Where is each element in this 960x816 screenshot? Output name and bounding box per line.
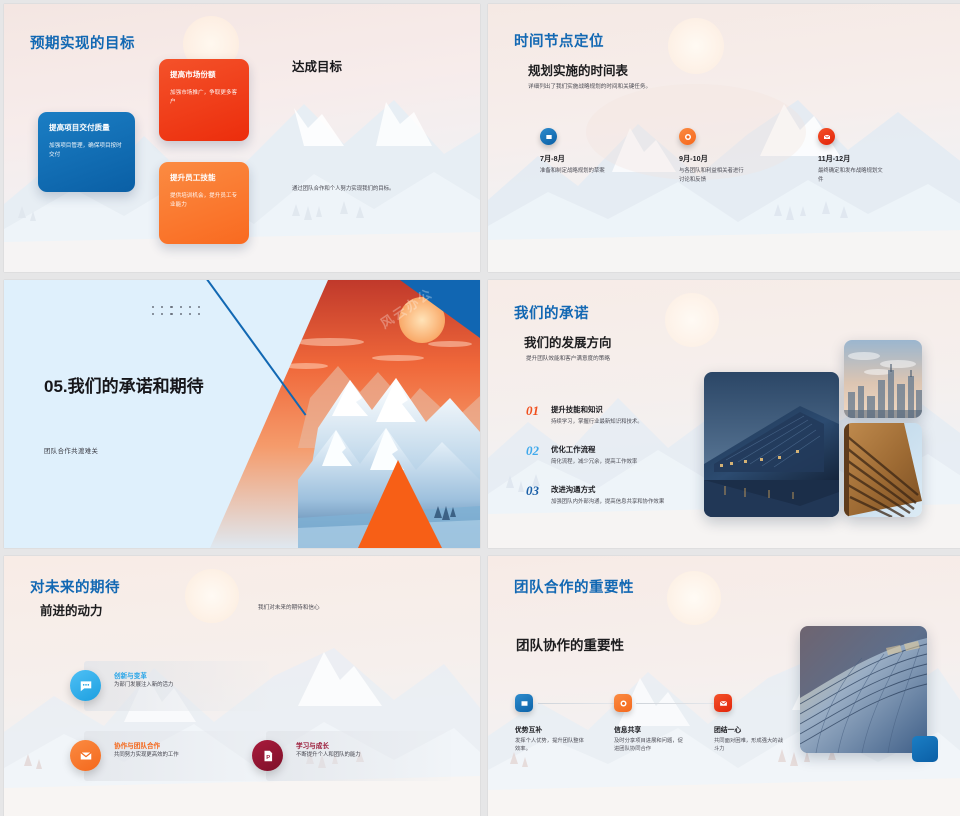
team-feature-desc: 及时分享项目进展和问题，促进团队协同合作: [614, 737, 688, 754]
section-subtitle: 团队合作共渡难关: [44, 446, 98, 455]
goal-card-title: 提高市场份额: [170, 70, 238, 80]
right-note: 通过团队合作和个人努力实现我们的目标。: [292, 184, 452, 192]
page-title: 对未来的期待: [30, 576, 120, 597]
team-feature-title: 信息共享: [614, 724, 714, 734]
future-card-desc: 为部门发展注入新的活力: [114, 681, 254, 689]
future-card-desc: 共同努力实现更高效的工作: [114, 751, 254, 759]
item-title: 优化工作流程: [551, 444, 676, 455]
photo-curved-facade: [800, 626, 927, 753]
photo-city-skyline: [844, 340, 922, 418]
right-heading: 达成目标: [292, 56, 342, 75]
timeline-desc: 最终确定和发布战略规划文件: [818, 167, 886, 184]
goal-card-market-share[interactable]: 提高市场份额 加强市场推广，争取更多客户: [159, 59, 249, 141]
timeline-period: 9月-10月: [679, 154, 789, 164]
team-feature-desc: 共同面对困难，形成强大的战斗力: [714, 737, 788, 754]
slide-future[interactable]: 对未来的期待 前进的动力 我们对未来的期待和信心 创新与变革 为部门发展注入新的…: [4, 556, 480, 816]
team-feature-title: 团结一心: [714, 724, 814, 734]
team-feature-3[interactable]: 团结一心 共同面对困难，形成强大的战斗力: [714, 694, 814, 754]
slide-commitment[interactable]: 我们的承诺 我们的发展方向 提升团队效能和客户满意度的策略 01 提升技能和知识…: [488, 280, 960, 548]
sub-description: 提升团队效能和客户满意度的策略: [526, 355, 726, 363]
target-icon: [679, 128, 696, 145]
timeline-desc: 与各团队和利益相关者进行讨论和反馈: [679, 167, 747, 184]
goal-card-skills[interactable]: 提升员工技能 提供培训机会，提升员工专业能力: [159, 162, 249, 244]
future-card-title: 创新与变革: [114, 670, 147, 680]
slide-section-cover[interactable]: 风云办公 05.我们的承诺和期待 团队合作共渡难关: [4, 280, 480, 548]
sub-description: 详细列出了我们实施战略规划的时间和关键任务。: [528, 83, 758, 91]
mail-icon: [70, 740, 101, 771]
mail-icon: [714, 694, 732, 712]
sub-heading: 我们的发展方向: [524, 332, 612, 351]
timeline-desc: 准备和制定战略规划的草案: [540, 167, 608, 176]
commitment-item-2[interactable]: 02 优化工作流程 简化流程，减少冗余，提高工作效率: [526, 444, 676, 467]
slide-goals[interactable]: 预期实现的目标 提高项目交付质量 加强项目管理，确保项目按时交付 提高市场份额 …: [4, 4, 480, 272]
item-number: 03: [526, 483, 539, 499]
timeline-item-1[interactable]: 7月-8月 准备和制定战略规划的草案: [540, 128, 650, 176]
sub-heading: 规划实施的时间表: [528, 60, 628, 79]
section-title: 05.我们的承诺和期待: [44, 376, 214, 398]
commitment-item-3[interactable]: 03 改进沟通方式 加强团队内外部沟通，提高信息共享和协作效果: [526, 484, 676, 507]
item-title: 提升技能和知识: [551, 404, 676, 415]
team-feature-1[interactable]: 优势互补 发挥个人优势，提升团队整体效率。: [515, 694, 615, 754]
image-icon: [540, 128, 557, 145]
item-title: 改进沟通方式: [551, 484, 676, 495]
goal-card-quality[interactable]: 提高项目交付质量 加强项目管理，确保项目按时交付: [38, 112, 135, 192]
team-feature-desc: 发挥个人优势，提升团队整体效率。: [515, 737, 589, 754]
future-card-desc: 不断提升个人和团队的能力: [296, 751, 436, 759]
goal-card-title: 提升员工技能: [170, 173, 238, 183]
target-icon: [614, 694, 632, 712]
commitment-item-1[interactable]: 01 提升技能和知识 持续学习，掌握行业最新知识和技术。: [526, 404, 676, 427]
sub-heading: 前进的动力: [40, 600, 103, 619]
slide-deck: 预期实现的目标 提高项目交付质量 加强项目管理，确保项目按时交付 提高市场份额 …: [0, 0, 960, 816]
item-desc: 加强团队内外部沟通，提高信息共享和协作效果: [551, 498, 676, 507]
mail-icon: [818, 128, 835, 145]
chat-icon: [70, 670, 101, 701]
svg-text:P: P: [266, 754, 270, 760]
item-number: 01: [526, 403, 539, 419]
slide-teamwork[interactable]: 团队合作的重要性 团队协作的重要性 优势互补 发挥个人优势，提升团队整体效率。 …: [488, 556, 960, 816]
item-desc: 持续学习，掌握行业最新知识和技术。: [551, 418, 676, 427]
timeline-period: 11月-12月: [818, 154, 928, 164]
future-card-title: 学习与成长: [296, 740, 329, 750]
photo-wooden-louvres: [844, 423, 922, 517]
future-card-growth[interactable]: P 学习与成长 不断提升个人和团队的能力: [266, 731, 451, 781]
future-card-innovation[interactable]: 创新与变革 为部门发展注入新的活力: [84, 661, 269, 711]
slide-timeline[interactable]: 时间节点定位 规划实施的时间表 详细列出了我们实施战略规划的时间和关键任务。 7…: [488, 4, 960, 272]
page-title: 预期实现的目标: [30, 32, 135, 53]
blue-square-accent: [912, 736, 938, 762]
goal-card-desc: 加强项目管理，确保项目按时交付: [49, 142, 124, 159]
goal-card-desc: 加强市场推广，争取更多客户: [170, 89, 238, 106]
timeline-period: 7月-8月: [540, 154, 650, 164]
page-title: 时间节点定位: [514, 30, 604, 51]
document-icon: P: [252, 740, 283, 771]
sub-heading: 团队协作的重要性: [516, 634, 624, 654]
dots-decoration: [152, 306, 200, 315]
image-icon: [515, 694, 533, 712]
page-title: 团队合作的重要性: [514, 576, 634, 597]
item-number: 02: [526, 443, 539, 459]
future-card-title: 协作与团队合作: [114, 740, 160, 750]
page-title: 我们的承诺: [514, 302, 589, 323]
timeline-item-3[interactable]: 11月-12月 最终确定和发布战略规划文件: [818, 128, 928, 184]
team-feature-title: 优势互补: [515, 724, 615, 734]
goal-card-title: 提高项目交付质量: [49, 123, 124, 133]
timeline-item-2[interactable]: 9月-10月 与各团队和利益相关者进行讨论和反馈: [679, 128, 789, 184]
team-feature-2[interactable]: 信息共享 及时分享项目进展和问题，促进团队协同合作: [614, 694, 714, 754]
cover-artwork: 风云办公: [210, 280, 480, 548]
sub-description: 我们对未来的期待和信心: [258, 604, 398, 612]
goal-card-desc: 提供培训机会，提升员工专业能力: [170, 192, 238, 209]
photo-glass-building: [704, 372, 839, 517]
item-desc: 简化流程，减少冗余，提高工作效率: [551, 458, 676, 467]
future-card-collaboration[interactable]: 协作与团队合作 共同努力实现更高效的工作: [84, 731, 269, 781]
